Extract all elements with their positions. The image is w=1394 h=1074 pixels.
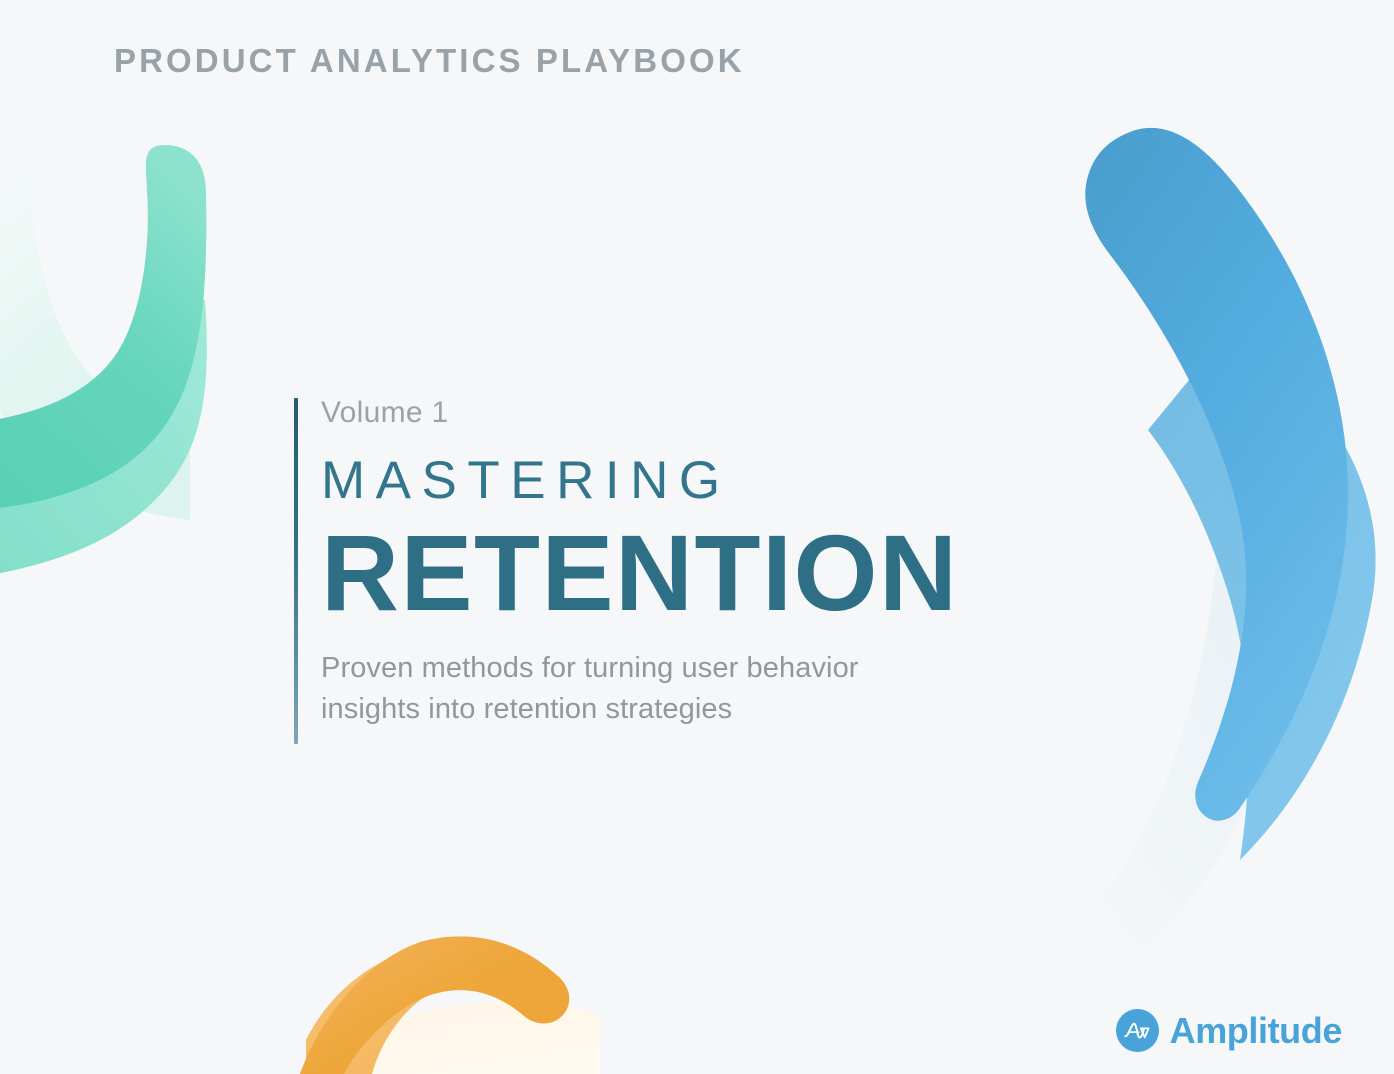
volume-label: Volume 1 [321,398,1054,428]
green-glow-shape [0,150,190,520]
amplitude-wordmark: Amplitude [1170,1013,1342,1049]
subtitle-line-1: Proven methods for turning user behavior [321,652,859,684]
orange-swoosh-light [306,943,530,1074]
green-swoosh-light [0,290,207,583]
orange-swoosh-dark [300,936,569,1074]
subtitle: Proven methods for turning user behavior… [321,648,1021,730]
subtitle-line-2: insights into retention strategies [321,693,732,725]
title-inner: Volume 1 MASTERING RETENTION Proven meth… [294,398,1054,730]
orange-glow-shape [300,1001,600,1074]
amplitude-logo-mark-icon [1116,1009,1159,1052]
page-eyebrow: PRODUCT ANALYTICS PLAYBOOK [114,42,745,80]
title-line-2: RETENTION [321,515,1054,632]
accent-rule [294,398,298,744]
amplitude-logo: Amplitude [1116,1009,1342,1052]
title-line-1: MASTERING [321,454,1054,507]
cover-page: PRODUCT ANALYTICS PLAYBOOK Volume 1 MAST… [0,0,1394,1074]
green-swoosh-dark [0,145,206,512]
blue-swoosh-light [1148,330,1376,860]
blue-swoosh-dark [1085,128,1348,821]
title-block: Volume 1 MASTERING RETENTION Proven meth… [294,398,1054,730]
